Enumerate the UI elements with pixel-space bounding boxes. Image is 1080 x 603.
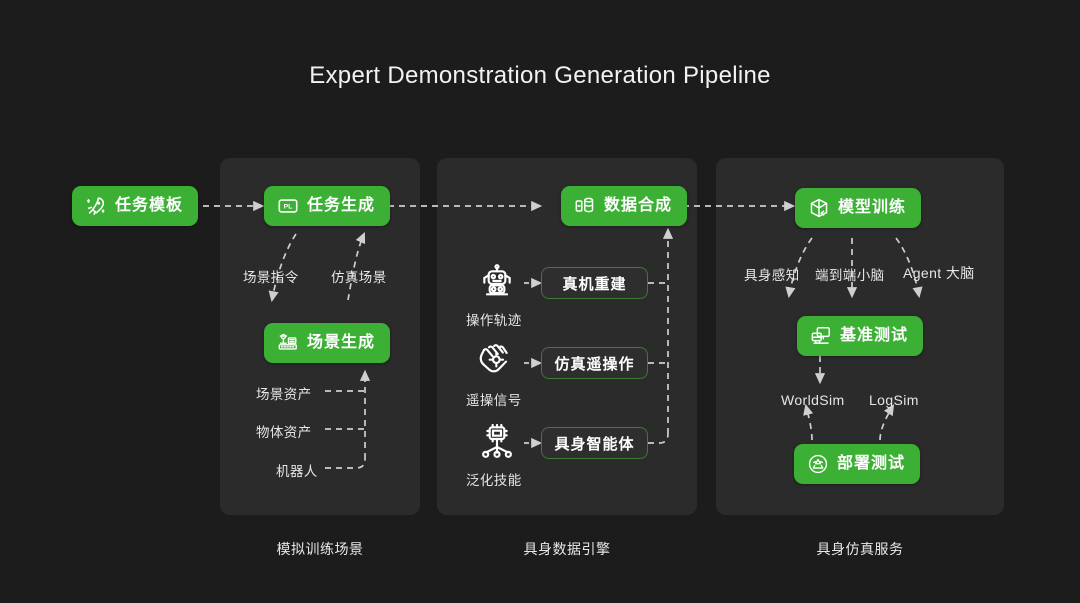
- robot-icon: [474, 262, 520, 302]
- node-label: 模型训练: [838, 200, 906, 216]
- source-label-operation-trajectory: 操作轨迹: [466, 309, 522, 329]
- node-model-training[interactable]: 模型训练: [795, 188, 921, 228]
- recycle-circle-icon: [807, 453, 829, 475]
- cube-arrow-icon: [808, 197, 830, 219]
- neural-node-icon: [474, 422, 520, 462]
- input-label-robot: 机器人: [276, 460, 318, 480]
- caption-embodied-data-engine: 具身数据引擎: [437, 539, 697, 559]
- node-real-machine-rebuild[interactable]: 真机重建: [541, 267, 648, 299]
- edge-label-logsim: LogSim: [869, 392, 919, 408]
- node-data-synthesis[interactable]: 数据合成: [561, 186, 687, 226]
- pl-frame-icon: PL: [277, 195, 299, 217]
- node-label: 场景生成: [307, 335, 375, 351]
- node-label: 真机重建: [562, 273, 626, 294]
- edge-label-worldsim: WorldSim: [781, 392, 845, 408]
- edge-label-sim-scene: 仿真场景: [331, 266, 387, 286]
- svg-text:PL: PL: [284, 203, 293, 210]
- rocket-icon: [85, 195, 107, 217]
- node-label: 基准测试: [840, 328, 908, 344]
- diagram-canvas: Expert Demonstration Generation Pipeline: [0, 0, 1080, 603]
- worker-machine-icon: [277, 332, 299, 354]
- edge-label-scene-instruction: 场景指令: [243, 266, 299, 286]
- page-title: Expert Demonstration Generation Pipeline: [0, 62, 1080, 90]
- node-scene-generation[interactable]: 场景生成: [264, 323, 390, 363]
- node-label: 任务生成: [307, 198, 375, 214]
- node-label: 数据合成: [604, 198, 672, 214]
- glove-icon: [474, 342, 520, 382]
- input-label-object-asset: 物体资产: [256, 421, 312, 441]
- node-task-template[interactable]: 任务模板: [72, 186, 198, 226]
- monitor-chart-icon: [810, 325, 832, 347]
- source-label-teleop-signal: 遥操信号: [466, 389, 522, 409]
- node-label: 仿真遥操作: [554, 353, 634, 374]
- data-sync-icon: [574, 195, 596, 217]
- caption-embodied-simulation-service: 具身仿真服务: [716, 539, 1004, 559]
- node-sim-teleoperation[interactable]: 仿真遥操作: [541, 347, 648, 379]
- node-label: 具身智能体: [554, 433, 634, 454]
- node-task-generation[interactable]: PL 任务生成: [264, 186, 390, 226]
- source-label-generalization-skill: 泛化技能: [466, 469, 522, 489]
- edge-label-embodied-perception: 具身感知: [744, 264, 800, 284]
- node-label: 任务模板: [115, 198, 183, 214]
- node-embodied-agent[interactable]: 具身智能体: [541, 427, 648, 459]
- caption-simulation-training-scene: 模拟训练场景: [220, 539, 420, 559]
- node-label: 部署测试: [837, 456, 905, 472]
- input-label-scene-asset: 场景资产: [256, 383, 312, 403]
- node-deployment-test[interactable]: 部署测试: [794, 444, 920, 484]
- node-benchmark-test[interactable]: 基准测试: [797, 316, 923, 356]
- edge-label-end-to-end-cerebellum: 端到端小脑: [815, 264, 885, 284]
- edge-label-agent-brain: Agent 大脑: [903, 263, 975, 283]
